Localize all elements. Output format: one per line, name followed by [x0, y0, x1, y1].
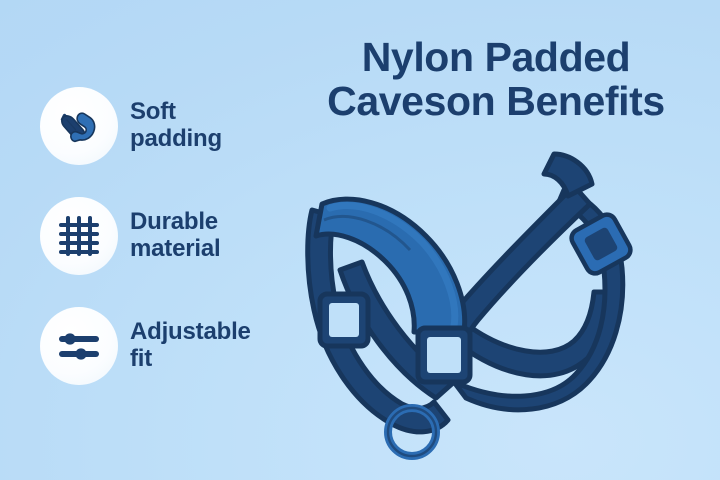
- feature-item-soft-padding: Soft padding: [40, 86, 290, 166]
- infographic-canvas: Nylon Padded Caveson Benefits: [0, 0, 720, 480]
- square-buckle-center: [418, 328, 470, 382]
- feature-item-adjustable-fit: Adjustable fit: [40, 306, 290, 386]
- feature-label-line-2: material: [130, 236, 220, 263]
- feature-label-line-1: Adjustable: [130, 318, 251, 345]
- nylon-padded-caveson-illustration: [296, 146, 648, 468]
- title-line-1: Nylon Padded: [296, 36, 696, 80]
- feature-label-line-1: Durable: [130, 208, 218, 235]
- padded-strap-icon: [54, 101, 104, 151]
- feature-icon-badge: [40, 197, 118, 275]
- woven-mesh-grid-icon: [55, 212, 103, 260]
- square-buckle-left: [320, 294, 368, 346]
- feature-icon-badge: [40, 307, 118, 385]
- feature-label-line-1: Soft: [130, 98, 176, 125]
- page-title: Nylon Padded Caveson Benefits: [296, 36, 696, 124]
- feature-label-line-2: padding: [130, 126, 222, 153]
- feature-icon-badge: [40, 87, 118, 165]
- feature-label: Adjustable fit: [130, 319, 251, 373]
- feature-label: Soft padding: [130, 99, 222, 153]
- feature-item-durable-material: Durable material: [40, 196, 290, 276]
- feature-list: Soft padding: [40, 86, 290, 416]
- title-line-2: Caveson Benefits: [296, 80, 696, 124]
- feature-label: Durable material: [130, 209, 220, 263]
- sliders-adjust-icon: [55, 322, 103, 370]
- feature-label-line-2: fit: [130, 346, 251, 373]
